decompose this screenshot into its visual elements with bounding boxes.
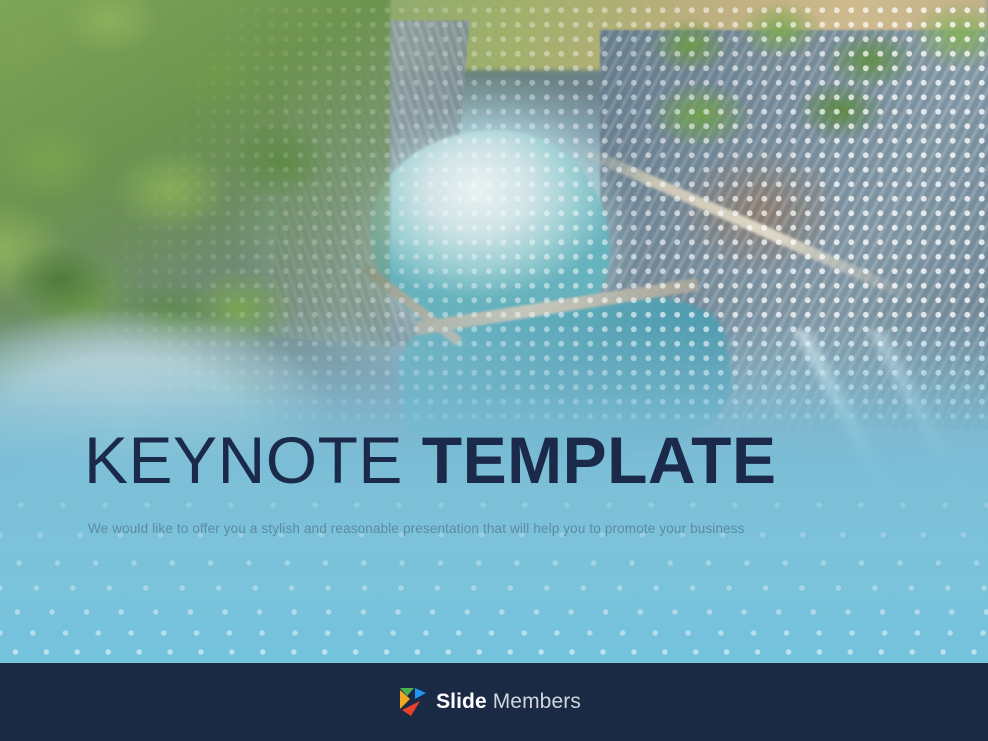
title-light-word: KEYNOTE xyxy=(84,423,403,497)
dot-row xyxy=(0,647,988,657)
brand-name-bold: Slide xyxy=(436,690,487,713)
title-slide: KEYNOTE TEMPLATE We would like to offer … xyxy=(0,0,988,741)
dot-row xyxy=(0,583,988,593)
brand-wordmark: Slide Members xyxy=(436,690,581,714)
brand-name-light: Members xyxy=(493,690,581,713)
slide-subtitle: We would like to offer you a stylish and… xyxy=(88,521,745,536)
brand-lockup[interactable]: Slide Members xyxy=(399,687,581,717)
pinwheel-logo-icon xyxy=(399,687,427,717)
slide-title: KEYNOTE TEMPLATE xyxy=(84,424,777,496)
dot-row xyxy=(0,500,988,510)
dot-row xyxy=(0,558,988,568)
photo-right-treeline xyxy=(640,0,988,145)
title-bold-word: TEMPLATE xyxy=(422,423,777,497)
dot-row xyxy=(0,607,988,617)
dot-row xyxy=(0,628,988,638)
footer-bar: Slide Members xyxy=(0,663,988,741)
